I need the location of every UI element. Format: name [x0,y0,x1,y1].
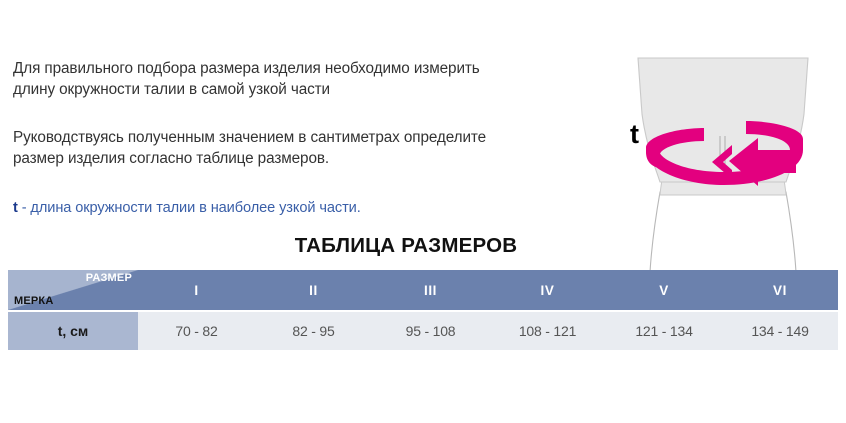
cell-size-2: 82 - 95 [255,312,372,350]
waist-definition-line: t - длина окружности талии в наиболее уз… [13,198,523,218]
cell-size-1: 70 - 82 [138,312,255,350]
instruction-paragraph-1: Для правильного подбора размера изделия … [13,58,523,100]
row-header-measurement: t, см [8,312,138,350]
corner-size-label: РАЗМЕР [86,272,132,284]
instructions-block: Для правильного подбора размера изделия … [13,58,523,218]
hips-outline [650,192,796,272]
table-header-row: РАЗМЕР МЕРКА I II III IV V VI [8,270,838,310]
size-table: РАЗМЕР МЕРКА I II III IV V VI t, см 70 -… [8,270,838,350]
column-header-2: II [255,270,372,310]
table-corner-cell: РАЗМЕР МЕРКА [8,270,138,310]
instruction-paragraph-2: Руководствуясь полученным значением в са… [13,127,523,169]
column-header-5: V [606,270,722,310]
cell-size-6: 134 - 149 [722,312,838,350]
column-header-6: VI [722,270,838,310]
column-header-4: IV [489,270,606,310]
measure-label-t: t [630,119,639,149]
cell-size-3: 95 - 108 [372,312,489,350]
cell-size-4: 108 - 121 [489,312,606,350]
waist-definition-text: - длина окружности талии в наиболее узко… [18,200,361,216]
cell-size-5: 121 - 134 [606,312,722,350]
corner-measure-label: МЕРКА [14,295,54,307]
page-title: ТАБЛИЦА РАЗМЕРОВ [0,234,812,258]
column-header-1: I [138,270,255,310]
column-header-3: III [372,270,489,310]
table-row: t, см 70 - 82 82 - 95 95 - 108 108 - 121… [8,312,838,350]
